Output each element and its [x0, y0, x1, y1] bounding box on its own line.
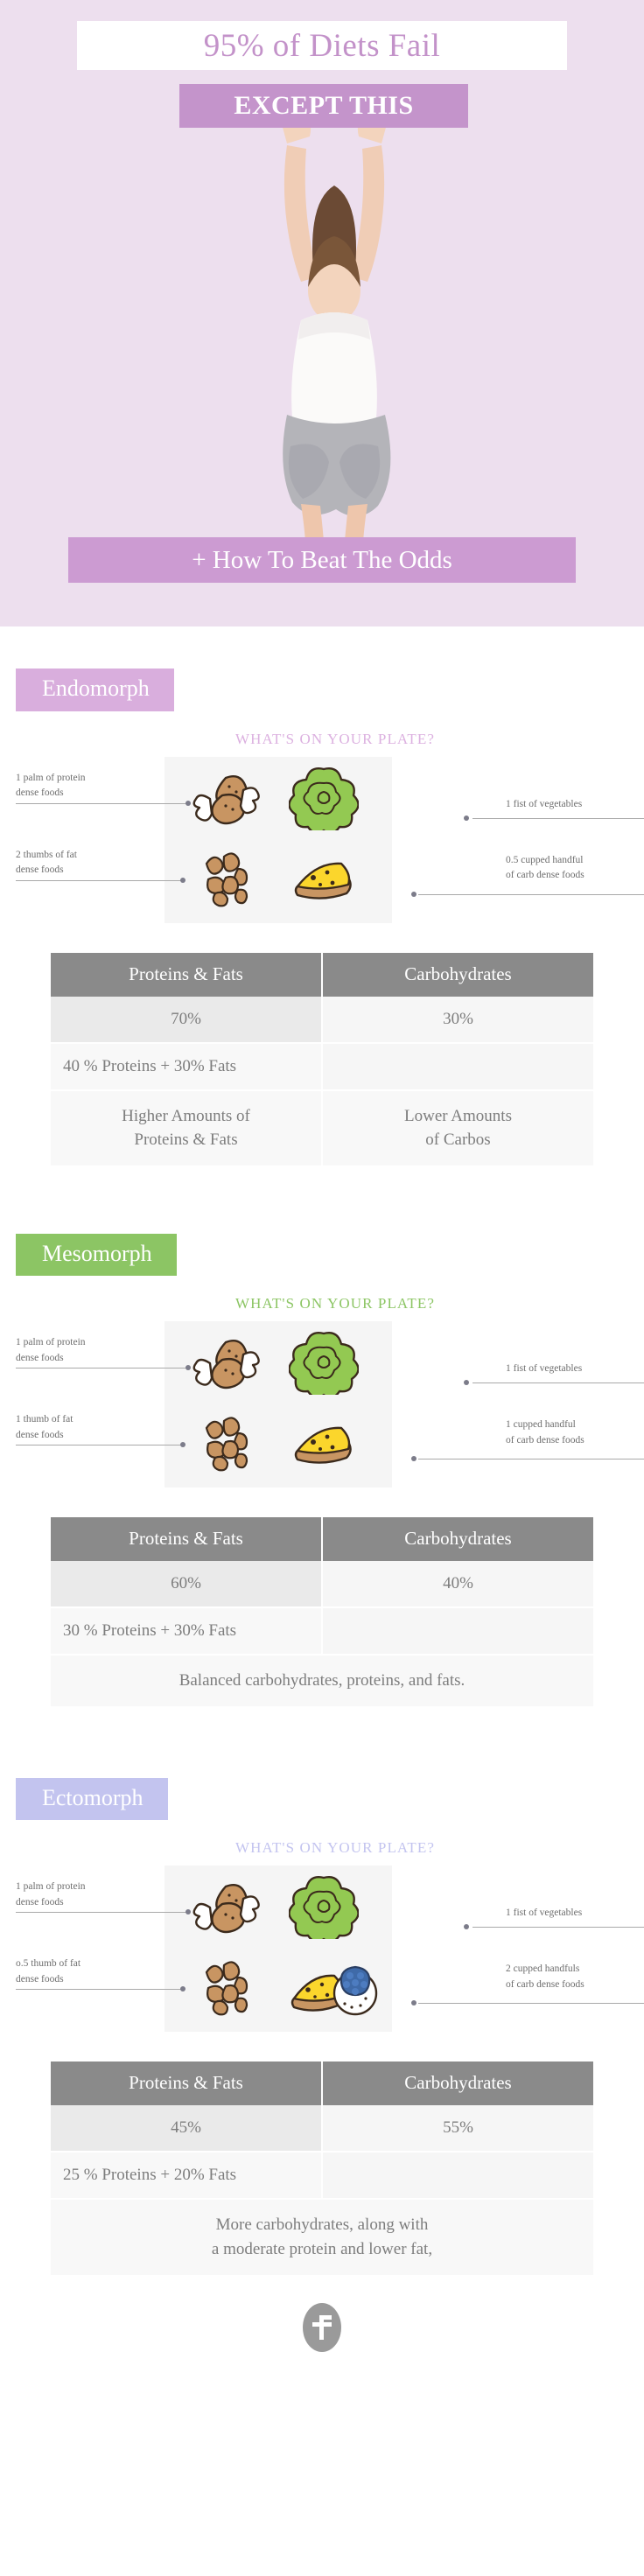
hero-banner: 95% of Diets Fail EXCEPT THIS + How To B…	[0, 0, 644, 626]
plate-panel-endomorph: 1 palm of protein dense foods 2 thumbs o…	[0, 757, 644, 923]
table-header-carbohydrates: Carbohydrates	[322, 1517, 593, 1561]
table-row-percentages: 60% 40%	[51, 1561, 593, 1607]
callout-protein-endomorph: 1 palm of protein dense foods	[16, 771, 86, 802]
table-row-note: Balanced carbohydrates, proteins, and fa…	[51, 1655, 593, 1707]
callout-fat-endomorph: 2 thumbs of fat dense foods	[16, 848, 77, 879]
leader-line-protein	[16, 1912, 189, 1913]
table-header-proteins-fats: Proteins & Fats	[51, 953, 322, 997]
chicken-drumstick-icon	[191, 766, 261, 832]
nuts-cashews-icon	[191, 1953, 261, 2019]
note-left-line-2: Proteins & Fats	[134, 1130, 237, 1149]
cell-macro-split: 30 % Proteins + 30% Fats	[51, 1607, 322, 1655]
cell-carb-percent: 55%	[322, 2105, 593, 2152]
callout-protein-ectomorph: 1 palm of protein dense foods	[16, 1879, 86, 1911]
cell-carb-percent: 30%	[322, 997, 593, 1043]
chicken-drumstick-icon	[191, 1874, 261, 1941]
cell-pf-percent: 60%	[51, 1561, 322, 1607]
note-right-line-1: Lower Amounts	[404, 1107, 512, 1125]
hero-odds-band: + How To Beat The Odds	[68, 537, 576, 583]
note-right-line-2: of Carbos	[425, 1130, 490, 1149]
leader-line-carbs	[418, 1459, 644, 1459]
table-header-row: Proteins & Fats Carbohydrates	[51, 2061, 593, 2105]
cell-empty	[322, 2152, 593, 2199]
cell-carb-percent: 40%	[322, 1561, 593, 1607]
leader-dot-carbs	[411, 2000, 416, 2005]
cell-macro-split: 40 % Proteins + 30% Fats	[51, 1043, 322, 1090]
table-row-percentages: 70% 30%	[51, 997, 593, 1043]
bread-with-cheese-icon	[289, 848, 359, 914]
callout-line-1: 1 fist of vegetables	[506, 1906, 582, 1921]
callout-vegetables-mesomorph: 1 fist of vegetables	[506, 1361, 582, 1377]
section-endomorph: Endomorph WHAT'S ON YOUR PLATE?	[0, 626, 644, 1167]
bread-cheese-and-berries-icon	[289, 1956, 380, 2023]
callout-vegetables-ectomorph: 1 fist of vegetables	[506, 1906, 582, 1921]
macro-table-endomorph: Proteins & Fats Carbohydrates 70% 30% 40…	[51, 953, 593, 1167]
plate-question-mesomorph: WHAT'S ON YOUR PLATE?	[26, 1295, 644, 1312]
callout-line-2: dense foods	[16, 1351, 86, 1367]
table-header-row: Proteins & Fats Carbohydrates	[51, 1517, 593, 1561]
callout-line-1: 1 palm of protein	[16, 1335, 86, 1351]
section-mesomorph: Mesomorph WHAT'S ON YOUR PLATE?	[0, 1234, 644, 1708]
macro-table-ectomorph: Proteins & Fats Carbohydrates 45% 55% 25…	[51, 2061, 593, 2276]
table-row-split: 40 % Proteins + 30% Fats	[51, 1043, 593, 1090]
f-logo-icon[interactable]	[303, 2303, 341, 2352]
callout-line-2: dense foods	[16, 1972, 80, 1988]
table-row-note: Higher Amounts of Proteins & Fats Lower …	[51, 1090, 593, 1166]
lettuce-icon	[289, 764, 359, 830]
macro-table-mesomorph: Proteins & Fats Carbohydrates 60% 40% 30…	[51, 1517, 593, 1708]
section-ectomorph: Ectomorph WHAT'S ON YOUR PLATE?	[0, 1778, 644, 2277]
plate-question-ectomorph: WHAT'S ON YOUR PLATE?	[26, 1839, 644, 1857]
callout-line-1: 1 thumb of fat	[16, 1412, 73, 1428]
callout-line-1: o.5 thumb of fat	[16, 1956, 80, 1972]
callout-fat-mesomorph: 1 thumb of fat dense foods	[16, 1412, 73, 1444]
cell-empty	[322, 1607, 593, 1655]
hero-title: 95% of Diets Fail	[204, 27, 441, 65]
cell-note-full: More carbohydrates, along with a moderat…	[51, 2199, 593, 2275]
callout-fat-ectomorph: o.5 thumb of fat dense foods	[16, 1956, 80, 1988]
table-header-carbohydrates: Carbohydrates	[322, 2061, 593, 2105]
leader-line-carbs	[418, 2003, 644, 2004]
table-header-carbohydrates: Carbohydrates	[322, 953, 593, 997]
callout-line-2: dense foods	[16, 863, 77, 878]
body-type-tag-ectomorph: Ectomorph	[16, 1778, 168, 1821]
callout-line-2: dense foods	[16, 1428, 73, 1444]
callout-carbs-ectomorph: 2 cupped handfuls of carb dense foods	[506, 1962, 584, 1993]
leader-dot-protein	[185, 801, 191, 806]
leader-dot-vegetables	[464, 1380, 469, 1385]
cell-macro-split: 25 % Proteins + 20% Fats	[51, 2152, 322, 2199]
leader-dot-vegetables	[464, 815, 469, 821]
leader-dot-vegetables	[464, 1924, 469, 1929]
callout-line-2: of carb dense foods	[506, 1433, 584, 1449]
callout-line-1: 1 fist of vegetables	[506, 797, 582, 813]
leader-dot-carbs	[411, 1456, 416, 1461]
footer	[0, 2277, 644, 2356]
note-left-line-1: Higher Amounts of	[122, 1107, 250, 1125]
nuts-cashews-icon	[191, 844, 261, 911]
callout-line-1: 2 thumbs of fat	[16, 848, 77, 864]
table-row-note: More carbohydrates, along with a moderat…	[51, 2199, 593, 2275]
callout-vegetables-endomorph: 1 fist of vegetables	[506, 797, 582, 813]
hero-photo-woman-on-scale	[203, 61, 465, 551]
plate-panel-mesomorph: 1 palm of protein dense foods 1 thumb of…	[0, 1321, 644, 1487]
callout-line-1: 1 palm of protein	[16, 1879, 86, 1895]
table-row-split: 30 % Proteins + 30% Fats	[51, 1607, 593, 1655]
nuts-cashews-icon	[191, 1409, 261, 1475]
hero-odds-text: + How To Beat The Odds	[192, 546, 452, 575]
callout-carbs-endomorph: 0.5 cupped handful of carb dense foods	[506, 853, 584, 885]
table-row-split: 25 % Proteins + 20% Fats	[51, 2152, 593, 2199]
cell-note-right: Lower Amounts of Carbos	[322, 1090, 593, 1166]
leader-dot-fat	[180, 878, 185, 883]
plate-question-endomorph: WHAT'S ON YOUR PLATE?	[26, 731, 644, 748]
leader-line-protein	[16, 803, 189, 804]
hero-title-band: 95% of Diets Fail	[77, 21, 567, 70]
leader-line-fat	[16, 1989, 184, 1990]
callout-line-2: dense foods	[16, 1895, 86, 1911]
cell-note-full: Balanced carbohydrates, proteins, and fa…	[51, 1655, 593, 1707]
body-type-tag-endomorph: Endomorph	[16, 668, 174, 711]
cell-pf-percent: 70%	[51, 997, 322, 1043]
hero-subtitle-band: EXCEPT THIS	[179, 84, 468, 128]
cell-note-left: Higher Amounts of Proteins & Fats	[51, 1090, 322, 1166]
note-line-2: a moderate protein and lower fat,	[212, 2240, 432, 2258]
callout-line-2: dense foods	[16, 786, 86, 801]
leader-line-vegetables	[472, 1382, 644, 1383]
callout-protein-mesomorph: 1 palm of protein dense foods	[16, 1335, 86, 1367]
callout-carbs-mesomorph: 1 cupped handful of carb dense foods	[506, 1417, 584, 1449]
plate-panel-ectomorph: 1 palm of protein dense foods o.5 thumb …	[0, 1865, 644, 2032]
lettuce-icon	[289, 1328, 359, 1395]
note-line-1: More carbohydrates, along with	[216, 2215, 429, 2234]
cell-pf-percent: 45%	[51, 2105, 322, 2152]
leader-line-vegetables	[472, 1927, 644, 1928]
body-type-tag-mesomorph: Mesomorph	[16, 1234, 177, 1277]
leader-line-fat	[16, 1445, 184, 1445]
lettuce-icon	[289, 1872, 359, 1939]
leader-line-fat	[16, 880, 184, 881]
leader-line-vegetables	[472, 818, 644, 819]
callout-line-1: 2 cupped handfuls	[506, 1962, 584, 1977]
leader-line-protein	[16, 1368, 189, 1368]
callout-line-2: of carb dense foods	[506, 868, 584, 884]
leader-dot-carbs	[411, 892, 416, 897]
callout-line-1: 0.5 cupped handful	[506, 853, 584, 869]
table-header-row: Proteins & Fats Carbohydrates	[51, 953, 593, 997]
table-header-proteins-fats: Proteins & Fats	[51, 1517, 322, 1561]
cell-empty	[322, 1043, 593, 1090]
bread-with-cheese-icon	[289, 1412, 359, 1479]
callout-line-2: of carb dense foods	[506, 1977, 584, 1993]
callout-line-1: 1 fist of vegetables	[506, 1361, 582, 1377]
table-header-proteins-fats: Proteins & Fats	[51, 2061, 322, 2105]
callout-line-1: 1 cupped handful	[506, 1417, 584, 1433]
callout-line-1: 1 palm of protein	[16, 771, 86, 787]
hero-subtitle: EXCEPT THIS	[234, 91, 413, 121]
leader-line-carbs	[418, 894, 644, 895]
chicken-drumstick-icon	[191, 1330, 261, 1396]
table-row-percentages: 45% 55%	[51, 2105, 593, 2152]
